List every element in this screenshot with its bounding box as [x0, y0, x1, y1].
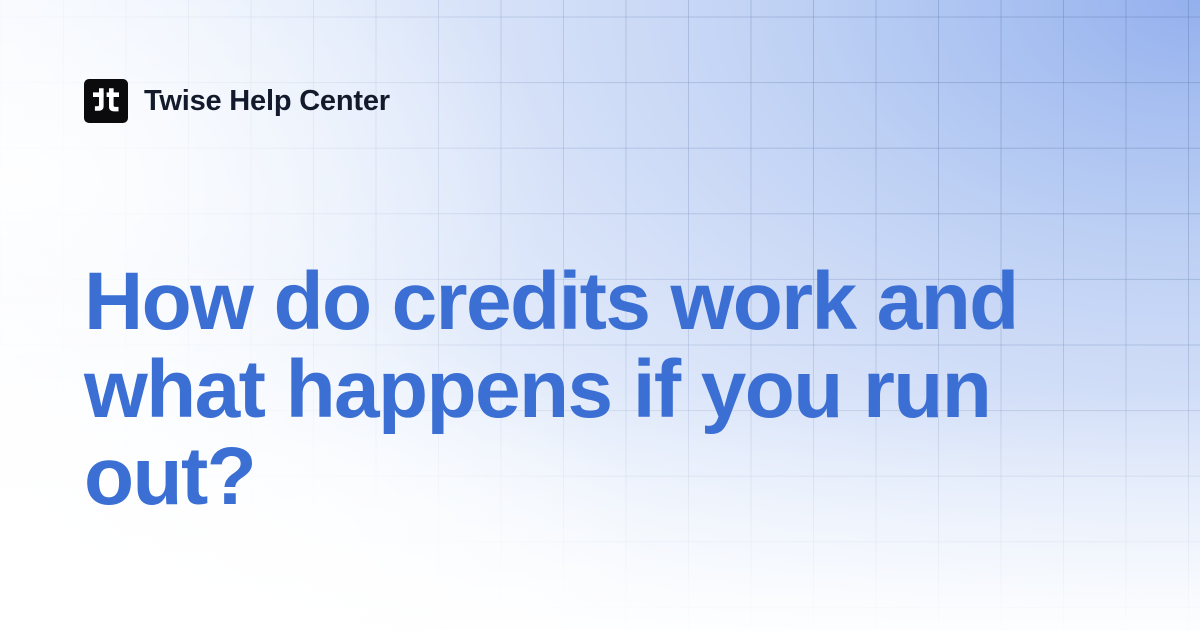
brand-name-label: Twise Help Center: [144, 87, 390, 116]
jt-monogram-logo-icon: [84, 79, 128, 123]
help-center-og-card: Twise Help Center How do credits work an…: [0, 0, 1200, 630]
brand-lockup: Twise Help Center: [84, 79, 390, 123]
page-title: How do credits work and what happens if …: [84, 258, 1044, 521]
card-content: Twise Help Center How do credits work an…: [0, 0, 1200, 630]
